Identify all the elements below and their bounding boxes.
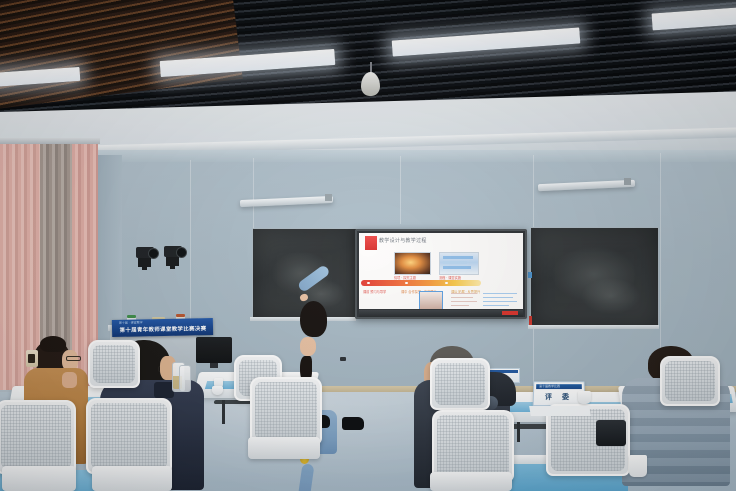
- presenter-clicker: [340, 357, 346, 361]
- chair[interactable]: [250, 377, 322, 445]
- chair[interactable]: [86, 398, 172, 474]
- pendant-light-bracket-right: [624, 178, 631, 185]
- chalkboard-red-marker: [529, 316, 532, 325]
- paper-cup-4: [629, 455, 647, 477]
- jar-1-lid: [127, 315, 136, 318]
- wall-top-strip: [96, 150, 736, 162]
- chalkboard-blue-tab: [528, 272, 532, 278]
- chair-seat[interactable]: [248, 437, 320, 459]
- chair-seat[interactable]: [430, 472, 512, 491]
- pendant-light-bracket-left: [325, 194, 332, 201]
- chair-seat[interactable]: [2, 466, 76, 491]
- paper-cup-2: [212, 386, 223, 395]
- slide-text-line: [451, 297, 473, 298]
- interactive-flat-panel[interactable]: 教学设计与教学过程 情境 · 探究主题 创设 · 真实任务情境 流程 · 课堂实…: [355, 229, 527, 319]
- slide-bottom-image: [419, 291, 443, 309]
- wall-banner: 第十届 · 课堂教学 第十届青年教师课堂教学比赛决赛: [112, 318, 213, 337]
- screen-power-indicator: [502, 311, 518, 315]
- slide-text-line: [483, 293, 517, 294]
- timeline-marker: [445, 282, 448, 285]
- slide-thumbnail-1: [394, 252, 431, 275]
- presenter-pointing-hand: [299, 293, 309, 302]
- chair[interactable]: [660, 356, 720, 406]
- curtain-rail: [0, 138, 100, 144]
- chair[interactable]: [88, 340, 140, 388]
- banner-title: 第十届青年教师课堂教学比赛决赛: [116, 324, 210, 334]
- chalk-tray-right: [528, 325, 659, 329]
- attendee-hands: [62, 372, 77, 388]
- attendee-hair-bun: [40, 336, 66, 352]
- slide-timeline-bar: [361, 280, 481, 286]
- presenter-face: [300, 337, 316, 356]
- chalkboard-right: [530, 227, 659, 328]
- paper-cup-3: [578, 391, 591, 404]
- slide-text-line: [483, 301, 517, 302]
- wall-seam: [253, 158, 254, 228]
- attendee-hair-clip-detail: [28, 354, 35, 363]
- timeline-marker: [405, 282, 408, 285]
- bag-on-floor: [596, 420, 626, 446]
- chair[interactable]: [430, 358, 490, 410]
- classroom-photo: 教学设计与教学过程 情境 · 探究主题 创设 · 真实任务情境 流程 · 课堂实…: [0, 0, 736, 491]
- screen-display[interactable]: 教学设计与教学过程 情境 · 探究主题 创设 · 真实任务情境 流程 · 课堂实…: [359, 233, 523, 309]
- slide-accent-block: [365, 236, 377, 250]
- chair[interactable]: [0, 400, 76, 474]
- attendee-glasses-icon: [66, 356, 81, 361]
- slide-title: 教学设计与教学过程: [379, 237, 427, 244]
- jar-3-lid: [176, 314, 185, 317]
- chair-seat[interactable]: [92, 466, 172, 491]
- smoke-detector-icon: [361, 72, 380, 96]
- slide-text-line: [451, 305, 469, 306]
- wall-seam: [400, 156, 401, 224]
- document-sheet: [529, 406, 591, 416]
- slide-text-line: [483, 305, 509, 306]
- banner-subtitle: 第十届 · 课堂教学: [119, 320, 143, 324]
- screen-bezel-bottom: [359, 310, 523, 317]
- slide-text-line: [451, 301, 477, 302]
- presenter-boot-right: [342, 417, 364, 430]
- presenter-hair: [300, 301, 327, 337]
- attendee-collar: [154, 382, 174, 398]
- slide-text-line: [483, 297, 513, 298]
- slide-text-line: [451, 293, 477, 294]
- water-bottle-center: [179, 365, 191, 392]
- slide-thumbnail-2: [439, 252, 479, 275]
